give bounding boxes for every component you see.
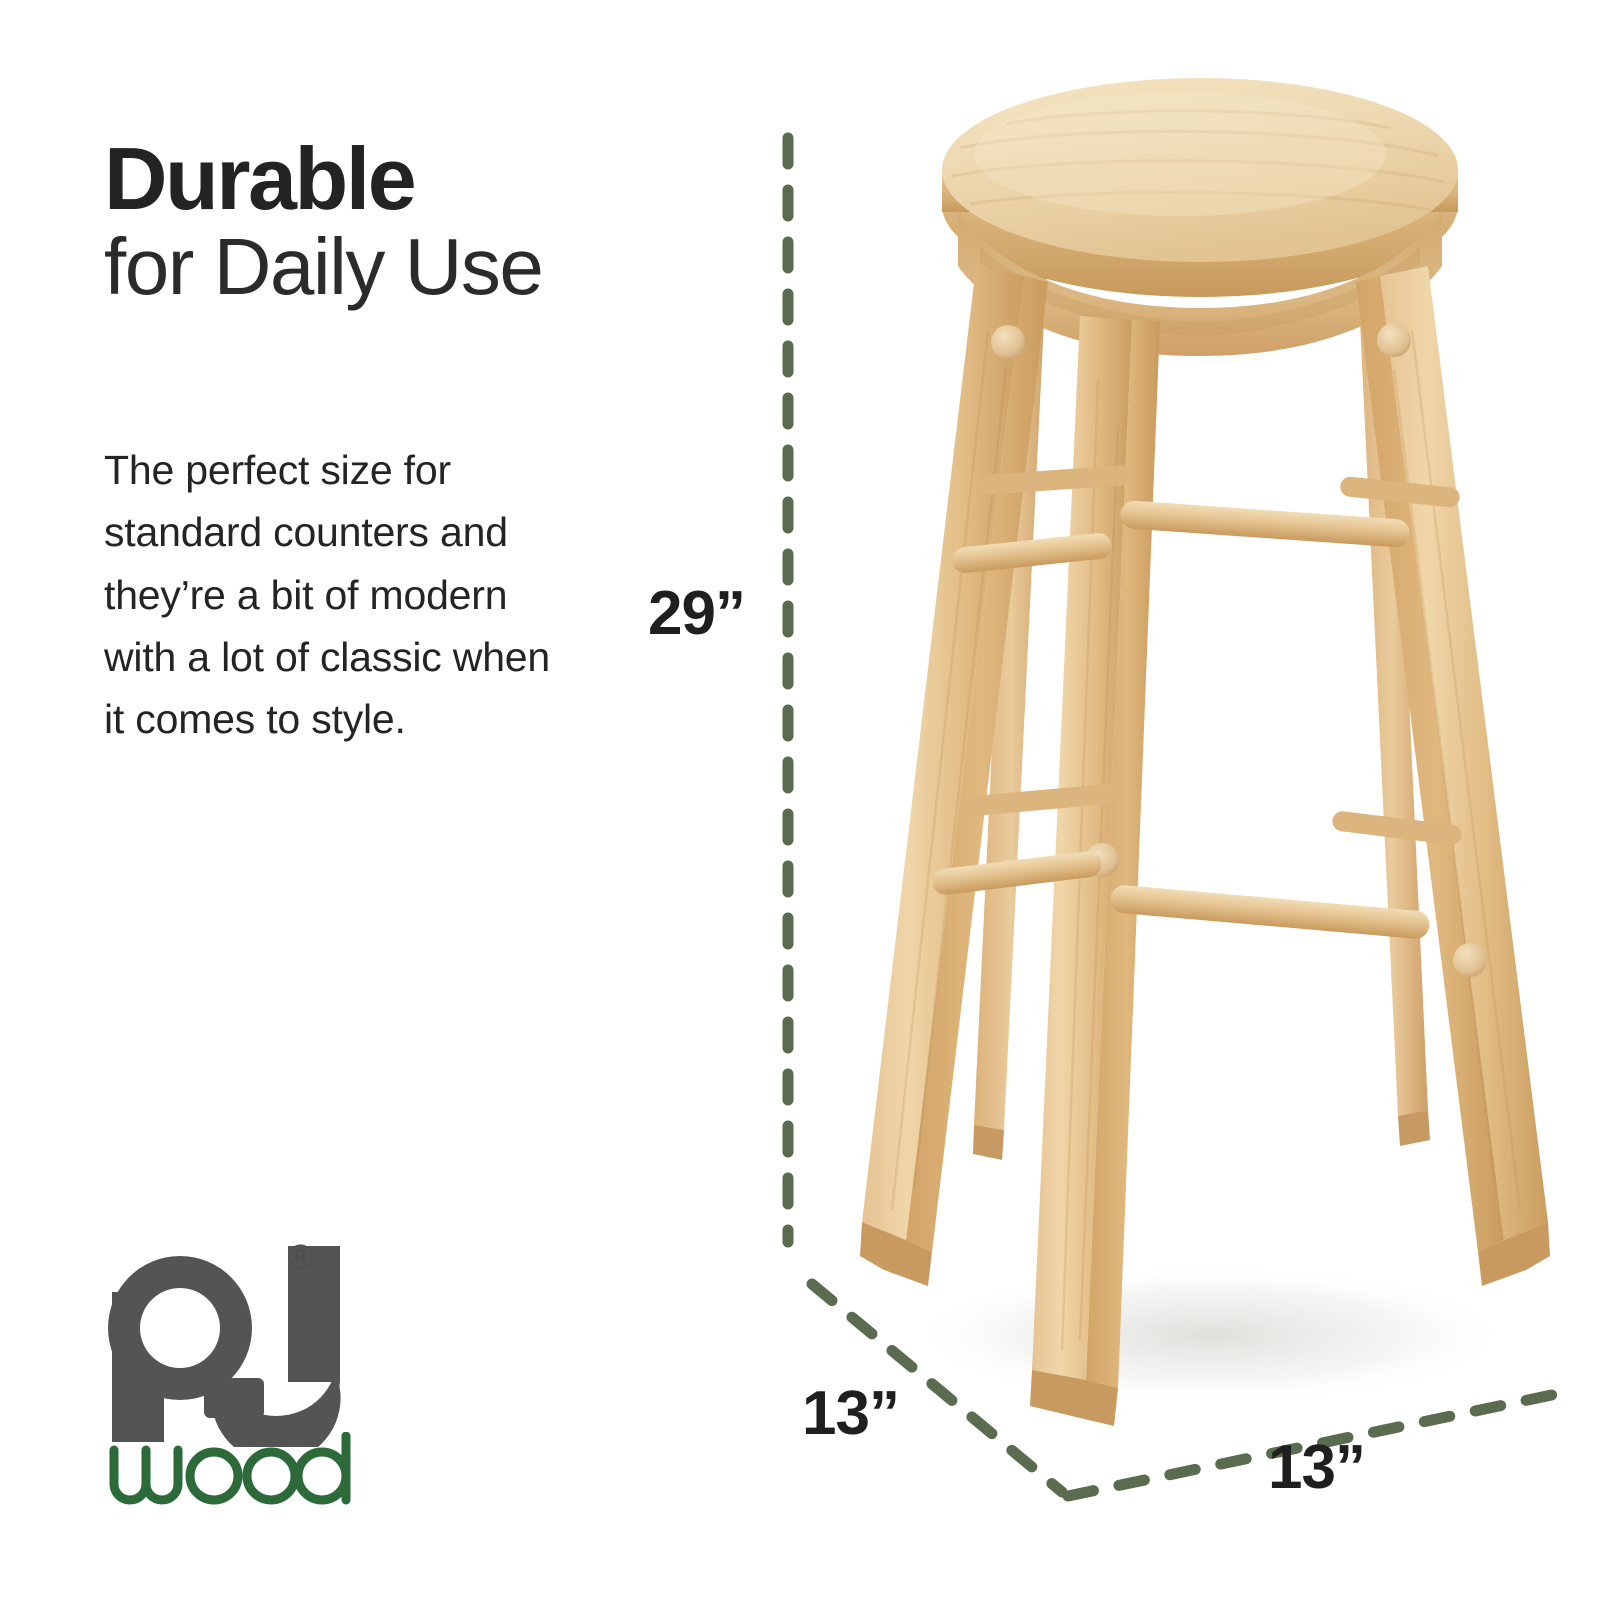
wood-wordmark xyxy=(104,1432,364,1510)
brand-logo: ® xyxy=(92,1232,392,1522)
body-paragraph: The perfect size for standard counters a… xyxy=(104,439,574,751)
width-dimension-label: 13” xyxy=(1268,1432,1365,1503)
product-shadow xyxy=(910,1265,1510,1405)
height-dimension-label: 29” xyxy=(648,578,745,649)
product-infographic: Durable for Daily Use The perfect size f… xyxy=(0,0,1600,1600)
headline-secondary: for Daily Use xyxy=(104,222,724,312)
dowel-plug xyxy=(1377,323,1411,357)
pj-monogram-icon xyxy=(92,1232,392,1447)
dowel-plug xyxy=(1453,943,1487,977)
registered-trademark-icon: ® xyxy=(288,1240,313,1274)
bar-stool-product-image xyxy=(780,70,1600,1470)
stool-seat xyxy=(942,78,1458,297)
page-title: Durable for Daily Use xyxy=(104,136,724,312)
dowel-plug xyxy=(991,325,1025,359)
stool-rung-lower-right xyxy=(1109,884,1430,940)
stool-rung-upper-right xyxy=(1119,500,1410,548)
depth-dimension-label: 13” xyxy=(802,1378,899,1449)
headline-primary: Durable xyxy=(104,136,724,222)
